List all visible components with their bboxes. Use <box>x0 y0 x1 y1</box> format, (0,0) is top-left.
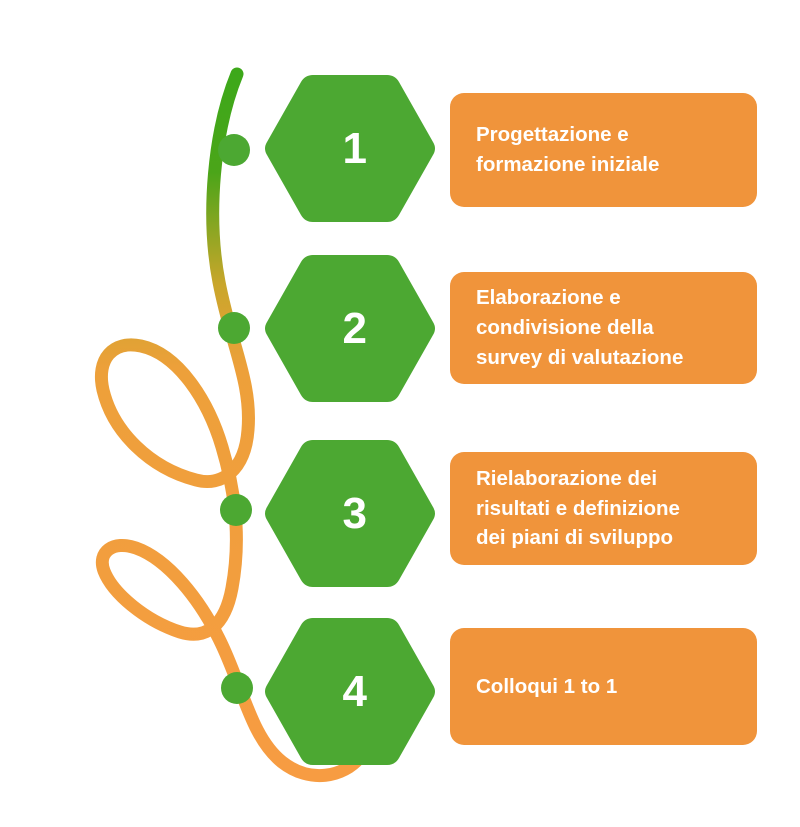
step-label-card-2[interactable]: Elaborazione e condivisione della survey… <box>450 272 757 384</box>
step-marker-dot-3 <box>220 494 252 526</box>
step-number-2: 2 <box>263 252 437 405</box>
infographic-canvas: 1 Progettazione e formazione iniziale 2 … <box>0 0 800 827</box>
step-hexagon-1[interactable]: 1 <box>263 72 437 225</box>
step-label-text-4: Colloqui 1 to 1 <box>450 672 643 702</box>
step-number-4: 4 <box>263 615 437 768</box>
step-label-card-3[interactable]: Rielaborazione dei risultati e definizio… <box>450 452 757 565</box>
step-label-text-2: Elaborazione e condivisione della survey… <box>450 283 709 372</box>
step-hexagon-2[interactable]: 2 <box>263 252 437 405</box>
step-label-text-1: Progettazione e formazione iniziale <box>450 120 685 179</box>
step-hexagon-3[interactable]: 3 <box>263 437 437 590</box>
step-number-3: 3 <box>263 437 437 590</box>
step-label-text-3: Rielaborazione dei risultati e definizio… <box>450 464 706 553</box>
step-label-card-1[interactable]: Progettazione e formazione iniziale <box>450 93 757 207</box>
step-marker-dot-2 <box>218 312 250 344</box>
step-marker-dot-1 <box>218 134 250 166</box>
step-label-card-4[interactable]: Colloqui 1 to 1 <box>450 628 757 745</box>
step-hexagon-4[interactable]: 4 <box>263 615 437 768</box>
step-marker-dot-4 <box>221 672 253 704</box>
step-number-1: 1 <box>263 72 437 225</box>
